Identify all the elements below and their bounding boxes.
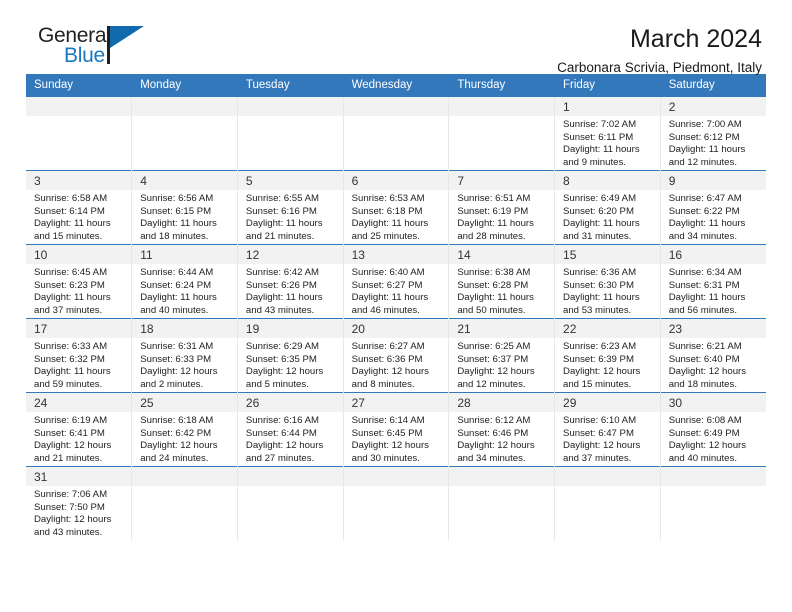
day-sunrise-text: Sunrise: 6:55 AM [246, 193, 337, 206]
day-sunset-text: Sunset: 6:45 PM [352, 428, 443, 441]
day-sunrise-text: Sunrise: 7:00 AM [669, 119, 760, 132]
day-sun-info: Sunrise: 6:55 AMSunset: 6:16 PMDaylight:… [238, 190, 343, 243]
calendar-day-cell[interactable]: 17Sunrise: 6:33 AMSunset: 6:32 PMDayligh… [26, 319, 132, 393]
day-sunset-text: Sunset: 6:24 PM [140, 280, 231, 293]
day-sunrise-text: Sunrise: 6:19 AM [34, 415, 125, 428]
weekday-header-wednesday: Wednesday [343, 74, 449, 97]
calendar-day-cell[interactable]: 31Sunrise: 7:06 AMSunset: 7:50 PMDayligh… [26, 467, 132, 541]
day-sunset-text: Sunset: 6:42 PM [140, 428, 231, 441]
day-daylight-line2-text: and 40 minutes. [140, 305, 231, 318]
day-daylight-line2-text: and 21 minutes. [34, 453, 125, 466]
day-sun-info: Sunrise: 6:47 AMSunset: 6:22 PMDaylight:… [661, 190, 766, 243]
day-daylight-line1-text: Daylight: 11 hours [669, 218, 760, 231]
calendar-day-cell[interactable]: 9Sunrise: 6:47 AMSunset: 6:22 PMDaylight… [660, 171, 766, 245]
day-sunrise-text: Sunrise: 6:58 AM [34, 193, 125, 206]
calendar-day-cell[interactable]: 10Sunrise: 6:45 AMSunset: 6:23 PMDayligh… [26, 245, 132, 319]
day-daylight-line2-text: and 18 minutes. [140, 231, 231, 244]
day-daylight-line1-text: Daylight: 11 hours [246, 218, 337, 231]
calendar-day-cell[interactable]: 11Sunrise: 6:44 AMSunset: 6:24 PMDayligh… [132, 245, 238, 319]
day-sunset-text: Sunset: 6:26 PM [246, 280, 337, 293]
day-daylight-line2-text: and 30 minutes. [352, 453, 443, 466]
calendar-day-cell[interactable]: 18Sunrise: 6:31 AMSunset: 6:33 PMDayligh… [132, 319, 238, 393]
day-daylight-line2-text: and 12 minutes. [669, 157, 760, 170]
day-sunset-text: Sunset: 6:22 PM [669, 206, 760, 219]
day-number: 21 [449, 319, 554, 338]
calendar-day-cell-empty [660, 467, 766, 541]
day-number [132, 97, 237, 116]
day-sunrise-text: Sunrise: 6:31 AM [140, 341, 231, 354]
calendar-day-cell[interactable]: 25Sunrise: 6:18 AMSunset: 6:42 PMDayligh… [132, 393, 238, 467]
day-sun-info: Sunrise: 6:42 AMSunset: 6:26 PMDaylight:… [238, 264, 343, 317]
day-number [449, 97, 554, 116]
day-sunrise-text: Sunrise: 6:56 AM [140, 193, 231, 206]
day-sunset-text: Sunset: 6:46 PM [457, 428, 548, 441]
day-sun-info: Sunrise: 6:08 AMSunset: 6:49 PMDaylight:… [661, 412, 766, 465]
day-sunset-text: Sunset: 6:20 PM [563, 206, 654, 219]
day-number: 29 [555, 393, 660, 412]
day-daylight-line2-text: and 8 minutes. [352, 379, 443, 392]
day-daylight-line2-text: and 40 minutes. [669, 453, 760, 466]
day-daylight-line1-text: Daylight: 11 hours [563, 144, 654, 157]
day-daylight-line1-text: Daylight: 11 hours [34, 366, 125, 379]
day-daylight-line2-text: and 9 minutes. [563, 157, 654, 170]
calendar-day-cell-empty [237, 97, 343, 171]
day-daylight-line2-text: and 15 minutes. [563, 379, 654, 392]
day-daylight-line2-text: and 31 minutes. [563, 231, 654, 244]
day-number: 14 [449, 245, 554, 264]
day-daylight-line2-text: and 18 minutes. [669, 379, 760, 392]
day-daylight-line1-text: Daylight: 11 hours [34, 292, 125, 305]
day-sun-info: Sunrise: 6:10 AMSunset: 6:47 PMDaylight:… [555, 412, 660, 465]
logo-triangle-icon [110, 26, 144, 48]
day-sunrise-text: Sunrise: 6:36 AM [563, 267, 654, 280]
day-number: 13 [344, 245, 449, 264]
day-number: 2 [661, 97, 766, 116]
day-sunset-text: Sunset: 7:50 PM [34, 502, 125, 515]
day-daylight-line1-text: Daylight: 11 hours [352, 218, 443, 231]
calendar-week-row: 24Sunrise: 6:19 AMSunset: 6:41 PMDayligh… [26, 393, 766, 467]
day-sunrise-text: Sunrise: 6:16 AM [246, 415, 337, 428]
day-number: 27 [344, 393, 449, 412]
calendar-week-row: 1Sunrise: 7:02 AMSunset: 6:11 PMDaylight… [26, 97, 766, 171]
calendar-day-cell[interactable]: 20Sunrise: 6:27 AMSunset: 6:36 PMDayligh… [343, 319, 449, 393]
day-daylight-line2-text: and 53 minutes. [563, 305, 654, 318]
general-blue-logo[interactable]: General Blue [38, 24, 158, 70]
day-number [344, 97, 449, 116]
day-sunrise-text: Sunrise: 6:34 AM [669, 267, 760, 280]
day-number: 7 [449, 171, 554, 190]
weekday-header-sunday: Sunday [26, 74, 132, 97]
calendar-day-cell[interactable]: 22Sunrise: 6:23 AMSunset: 6:39 PMDayligh… [555, 319, 661, 393]
day-sunset-text: Sunset: 6:30 PM [563, 280, 654, 293]
day-number: 1 [555, 97, 660, 116]
title-block: March 2024 Carbonara Scrivia, Piedmont, … [557, 24, 766, 79]
day-sunrise-text: Sunrise: 6:33 AM [34, 341, 125, 354]
day-number: 6 [344, 171, 449, 190]
day-sun-info: Sunrise: 6:31 AMSunset: 6:33 PMDaylight:… [132, 338, 237, 391]
day-number [344, 467, 449, 486]
day-sunset-text: Sunset: 6:16 PM [246, 206, 337, 219]
calendar-day-cell-empty [132, 97, 238, 171]
day-daylight-line2-text: and 12 minutes. [457, 379, 548, 392]
calendar-day-cell-empty [26, 97, 132, 171]
day-daylight-line2-text: and 2 minutes. [140, 379, 231, 392]
day-daylight-line1-text: Daylight: 12 hours [352, 440, 443, 453]
day-sun-info: Sunrise: 6:36 AMSunset: 6:30 PMDaylight:… [555, 264, 660, 317]
calendar-day-cell[interactable]: 1Sunrise: 7:02 AMSunset: 6:11 PMDaylight… [555, 97, 661, 171]
day-daylight-line1-text: Daylight: 12 hours [669, 440, 760, 453]
calendar-day-cell-empty [449, 97, 555, 171]
day-sun-info: Sunrise: 7:00 AMSunset: 6:12 PMDaylight:… [661, 116, 766, 169]
day-sunset-text: Sunset: 6:37 PM [457, 354, 548, 367]
page-subtitle: Carbonara Scrivia, Piedmont, Italy [557, 57, 762, 79]
day-number: 31 [26, 467, 131, 486]
day-daylight-line2-text: and 27 minutes. [246, 453, 337, 466]
day-sunset-text: Sunset: 6:33 PM [140, 354, 231, 367]
day-sunrise-text: Sunrise: 6:14 AM [352, 415, 443, 428]
day-sunset-text: Sunset: 6:28 PM [457, 280, 548, 293]
day-daylight-line1-text: Daylight: 12 hours [563, 440, 654, 453]
day-number: 18 [132, 319, 237, 338]
day-daylight-line2-text: and 56 minutes. [669, 305, 760, 318]
day-sunrise-text: Sunrise: 6:08 AM [669, 415, 760, 428]
day-daylight-line1-text: Daylight: 12 hours [246, 366, 337, 379]
day-number [238, 97, 343, 116]
calendar-day-cell[interactable]: 3Sunrise: 6:58 AMSunset: 6:14 PMDaylight… [26, 171, 132, 245]
day-sunset-text: Sunset: 6:44 PM [246, 428, 337, 441]
day-daylight-line1-text: Daylight: 11 hours [563, 218, 654, 231]
calendar-day-cell-empty [132, 467, 238, 541]
calendar-day-cell[interactable]: 26Sunrise: 6:16 AMSunset: 6:44 PMDayligh… [237, 393, 343, 467]
day-daylight-line1-text: Daylight: 11 hours [669, 292, 760, 305]
calendar-day-cell[interactable]: 24Sunrise: 6:19 AMSunset: 6:41 PMDayligh… [26, 393, 132, 467]
day-daylight-line2-text: and 43 minutes. [246, 305, 337, 318]
day-daylight-line1-text: Daylight: 11 hours [34, 218, 125, 231]
day-sun-info: Sunrise: 6:19 AMSunset: 6:41 PMDaylight:… [26, 412, 131, 465]
day-daylight-line2-text: and 37 minutes. [34, 305, 125, 318]
day-sun-info: Sunrise: 6:58 AMSunset: 6:14 PMDaylight:… [26, 190, 131, 243]
day-daylight-line2-text: and 34 minutes. [457, 453, 548, 466]
day-number: 9 [661, 171, 766, 190]
day-daylight-line1-text: Daylight: 11 hours [563, 292, 654, 305]
day-sun-info: Sunrise: 6:49 AMSunset: 6:20 PMDaylight:… [555, 190, 660, 243]
day-sunset-text: Sunset: 6:47 PM [563, 428, 654, 441]
day-daylight-line1-text: Daylight: 11 hours [457, 218, 548, 231]
day-daylight-line1-text: Daylight: 12 hours [140, 440, 231, 453]
weekday-header-monday: Monday [132, 74, 238, 97]
calendar-day-cell[interactable]: 12Sunrise: 6:42 AMSunset: 6:26 PMDayligh… [237, 245, 343, 319]
day-sunrise-text: Sunrise: 6:12 AM [457, 415, 548, 428]
day-sunset-text: Sunset: 6:49 PM [669, 428, 760, 441]
day-daylight-line2-text: and 21 minutes. [246, 231, 337, 244]
day-sunrise-text: Sunrise: 6:40 AM [352, 267, 443, 280]
day-number: 24 [26, 393, 131, 412]
day-daylight-line2-text: and 50 minutes. [457, 305, 548, 318]
day-sun-info: Sunrise: 7:06 AMSunset: 7:50 PMDaylight:… [26, 486, 131, 539]
calendar-day-cell[interactable]: 8Sunrise: 6:49 AMSunset: 6:20 PMDaylight… [555, 171, 661, 245]
day-sunset-text: Sunset: 6:36 PM [352, 354, 443, 367]
day-daylight-line2-text: and 37 minutes. [563, 453, 654, 466]
day-sun-info: Sunrise: 6:34 AMSunset: 6:31 PMDaylight:… [661, 264, 766, 317]
day-number: 17 [26, 319, 131, 338]
day-daylight-line1-text: Daylight: 12 hours [457, 440, 548, 453]
calendar-week-row: 17Sunrise: 6:33 AMSunset: 6:32 PMDayligh… [26, 319, 766, 393]
day-number [449, 467, 554, 486]
day-number: 4 [132, 171, 237, 190]
day-sunrise-text: Sunrise: 6:42 AM [246, 267, 337, 280]
day-daylight-line2-text: and 59 minutes. [34, 379, 125, 392]
calendar-day-cell[interactable]: 16Sunrise: 6:34 AMSunset: 6:31 PMDayligh… [660, 245, 766, 319]
day-number: 11 [132, 245, 237, 264]
day-sun-info: Sunrise: 6:40 AMSunset: 6:27 PMDaylight:… [344, 264, 449, 317]
day-daylight-line1-text: Daylight: 12 hours [140, 366, 231, 379]
calendar-day-cell-empty [449, 467, 555, 541]
day-number: 26 [238, 393, 343, 412]
day-number: 28 [449, 393, 554, 412]
calendar-day-cell[interactable]: 19Sunrise: 6:29 AMSunset: 6:35 PMDayligh… [237, 319, 343, 393]
day-number [26, 97, 131, 116]
calendar-day-cell-empty [555, 467, 661, 541]
day-sunrise-text: Sunrise: 6:27 AM [352, 341, 443, 354]
day-sunset-text: Sunset: 6:32 PM [34, 354, 125, 367]
day-sunset-text: Sunset: 6:35 PM [246, 354, 337, 367]
calendar-day-cell[interactable]: 6Sunrise: 6:53 AMSunset: 6:18 PMDaylight… [343, 171, 449, 245]
calendar-day-cell[interactable]: 13Sunrise: 6:40 AMSunset: 6:27 PMDayligh… [343, 245, 449, 319]
calendar-day-cell[interactable]: 4Sunrise: 6:56 AMSunset: 6:15 PMDaylight… [132, 171, 238, 245]
day-daylight-line1-text: Daylight: 11 hours [246, 292, 337, 305]
day-number: 30 [661, 393, 766, 412]
day-daylight-line1-text: Daylight: 11 hours [140, 292, 231, 305]
day-daylight-line2-text: and 34 minutes. [669, 231, 760, 244]
calendar-day-cell[interactable]: 5Sunrise: 6:55 AMSunset: 6:16 PMDaylight… [237, 171, 343, 245]
day-daylight-line2-text: and 5 minutes. [246, 379, 337, 392]
day-sunrise-text: Sunrise: 6:18 AM [140, 415, 231, 428]
day-daylight-line2-text: and 24 minutes. [140, 453, 231, 466]
day-sun-info: Sunrise: 6:14 AMSunset: 6:45 PMDaylight:… [344, 412, 449, 465]
day-sunrise-text: Sunrise: 6:29 AM [246, 341, 337, 354]
day-daylight-line1-text: Daylight: 12 hours [669, 366, 760, 379]
day-sunset-text: Sunset: 6:23 PM [34, 280, 125, 293]
calendar-day-cell[interactable]: 28Sunrise: 6:12 AMSunset: 6:46 PMDayligh… [449, 393, 555, 467]
calendar-day-cell[interactable]: 30Sunrise: 6:08 AMSunset: 6:49 PMDayligh… [660, 393, 766, 467]
calendar-day-cell-empty [343, 467, 449, 541]
day-number: 5 [238, 171, 343, 190]
day-sunrise-text: Sunrise: 6:51 AM [457, 193, 548, 206]
calendar-day-cell[interactable]: 21Sunrise: 6:25 AMSunset: 6:37 PMDayligh… [449, 319, 555, 393]
day-sunset-text: Sunset: 6:39 PM [563, 354, 654, 367]
day-sun-info: Sunrise: 6:33 AMSunset: 6:32 PMDaylight:… [26, 338, 131, 391]
day-daylight-line1-text: Daylight: 12 hours [34, 514, 125, 527]
calendar-day-cell[interactable]: 2Sunrise: 7:00 AMSunset: 6:12 PMDaylight… [660, 97, 766, 171]
weekday-header-thursday: Thursday [449, 74, 555, 97]
day-number [238, 467, 343, 486]
day-daylight-line2-text: and 46 minutes. [352, 305, 443, 318]
day-sunset-text: Sunset: 6:18 PM [352, 206, 443, 219]
calendar-day-cell[interactable]: 14Sunrise: 6:38 AMSunset: 6:28 PMDayligh… [449, 245, 555, 319]
calendar-day-cell-empty [343, 97, 449, 171]
day-sun-info: Sunrise: 6:16 AMSunset: 6:44 PMDaylight:… [238, 412, 343, 465]
day-daylight-line1-text: Daylight: 12 hours [457, 366, 548, 379]
calendar-week-row: 31Sunrise: 7:06 AMSunset: 7:50 PMDayligh… [26, 467, 766, 541]
day-sun-info: Sunrise: 6:25 AMSunset: 6:37 PMDaylight:… [449, 338, 554, 391]
day-number: 3 [26, 171, 131, 190]
day-sunrise-text: Sunrise: 6:23 AM [563, 341, 654, 354]
weekday-header-tuesday: Tuesday [237, 74, 343, 97]
calendar-day-cell[interactable]: 7Sunrise: 6:51 AMSunset: 6:19 PMDaylight… [449, 171, 555, 245]
day-number: 25 [132, 393, 237, 412]
day-sun-info: Sunrise: 6:23 AMSunset: 6:39 PMDaylight:… [555, 338, 660, 391]
day-daylight-line1-text: Daylight: 11 hours [669, 144, 760, 157]
page-header: General Blue March 2024 Carbonara Scrivi… [26, 0, 766, 74]
day-sun-info: Sunrise: 6:27 AMSunset: 6:36 PMDaylight:… [344, 338, 449, 391]
day-sunset-text: Sunset: 6:19 PM [457, 206, 548, 219]
calendar-body: 1Sunrise: 7:02 AMSunset: 6:11 PMDaylight… [26, 97, 766, 541]
day-sunrise-text: Sunrise: 6:47 AM [669, 193, 760, 206]
day-sun-info: Sunrise: 6:53 AMSunset: 6:18 PMDaylight:… [344, 190, 449, 243]
day-sun-info: Sunrise: 7:02 AMSunset: 6:11 PMDaylight:… [555, 116, 660, 169]
page-title: March 2024 [557, 24, 762, 54]
day-number: 8 [555, 171, 660, 190]
day-sunrise-text: Sunrise: 6:38 AM [457, 267, 548, 280]
day-daylight-line1-text: Daylight: 12 hours [563, 366, 654, 379]
calendar-day-cell-empty [237, 467, 343, 541]
day-daylight-line1-text: Daylight: 11 hours [352, 292, 443, 305]
day-sunset-text: Sunset: 6:15 PM [140, 206, 231, 219]
day-number [661, 467, 766, 486]
calendar-week-row: 3Sunrise: 6:58 AMSunset: 6:14 PMDaylight… [26, 171, 766, 245]
day-sunset-text: Sunset: 6:31 PM [669, 280, 760, 293]
day-sunrise-text: Sunrise: 6:44 AM [140, 267, 231, 280]
day-number: 23 [661, 319, 766, 338]
day-number: 12 [238, 245, 343, 264]
sunrise-sunset-calendar: Sunday Monday Tuesday Wednesday Thursday… [26, 74, 766, 541]
day-number [132, 467, 237, 486]
day-number: 16 [661, 245, 766, 264]
calendar-day-cell[interactable]: 29Sunrise: 6:10 AMSunset: 6:47 PMDayligh… [555, 393, 661, 467]
calendar-day-cell[interactable]: 15Sunrise: 6:36 AMSunset: 6:30 PMDayligh… [555, 245, 661, 319]
day-daylight-line1-text: Daylight: 12 hours [34, 440, 125, 453]
day-sunrise-text: Sunrise: 6:45 AM [34, 267, 125, 280]
day-sunrise-text: Sunrise: 6:25 AM [457, 341, 548, 354]
day-daylight-line1-text: Daylight: 12 hours [246, 440, 337, 453]
day-number: 22 [555, 319, 660, 338]
logo-text-blue: Blue [64, 44, 105, 68]
day-sun-info: Sunrise: 6:45 AMSunset: 6:23 PMDaylight:… [26, 264, 131, 317]
day-sun-info: Sunrise: 6:51 AMSunset: 6:19 PMDaylight:… [449, 190, 554, 243]
calendar-page: General Blue March 2024 Carbonara Scrivi… [0, 0, 792, 612]
day-sun-info: Sunrise: 6:44 AMSunset: 6:24 PMDaylight:… [132, 264, 237, 317]
calendar-day-cell[interactable]: 23Sunrise: 6:21 AMSunset: 6:40 PMDayligh… [660, 319, 766, 393]
day-sunset-text: Sunset: 6:12 PM [669, 132, 760, 145]
day-sunrise-text: Sunrise: 6:49 AM [563, 193, 654, 206]
day-daylight-line2-text: and 15 minutes. [34, 231, 125, 244]
day-sunset-text: Sunset: 6:11 PM [563, 132, 654, 145]
day-sunrise-text: Sunrise: 7:06 AM [34, 489, 125, 502]
calendar-week-row: 10Sunrise: 6:45 AMSunset: 6:23 PMDayligh… [26, 245, 766, 319]
day-daylight-line1-text: Daylight: 11 hours [140, 218, 231, 231]
day-sunrise-text: Sunrise: 6:53 AM [352, 193, 443, 206]
day-daylight-line1-text: Daylight: 11 hours [457, 292, 548, 305]
day-sun-info: Sunrise: 6:21 AMSunset: 6:40 PMDaylight:… [661, 338, 766, 391]
day-sunset-text: Sunset: 6:14 PM [34, 206, 125, 219]
day-number: 10 [26, 245, 131, 264]
day-number: 20 [344, 319, 449, 338]
day-sunrise-text: Sunrise: 6:10 AM [563, 415, 654, 428]
day-daylight-line1-text: Daylight: 12 hours [352, 366, 443, 379]
day-number: 15 [555, 245, 660, 264]
day-sun-info: Sunrise: 6:29 AMSunset: 6:35 PMDaylight:… [238, 338, 343, 391]
day-number: 19 [238, 319, 343, 338]
day-sun-info: Sunrise: 6:56 AMSunset: 6:15 PMDaylight:… [132, 190, 237, 243]
day-sunset-text: Sunset: 6:40 PM [669, 354, 760, 367]
day-sun-info: Sunrise: 6:12 AMSunset: 6:46 PMDaylight:… [449, 412, 554, 465]
day-sunrise-text: Sunrise: 6:21 AM [669, 341, 760, 354]
day-sun-info: Sunrise: 6:18 AMSunset: 6:42 PMDaylight:… [132, 412, 237, 465]
day-sunset-text: Sunset: 6:41 PM [34, 428, 125, 441]
day-sunset-text: Sunset: 6:27 PM [352, 280, 443, 293]
calendar-day-cell[interactable]: 27Sunrise: 6:14 AMSunset: 6:45 PMDayligh… [343, 393, 449, 467]
day-sun-info: Sunrise: 6:38 AMSunset: 6:28 PMDaylight:… [449, 264, 554, 317]
day-daylight-line2-text: and 25 minutes. [352, 231, 443, 244]
day-sunrise-text: Sunrise: 7:02 AM [563, 119, 654, 132]
day-daylight-line2-text: and 28 minutes. [457, 231, 548, 244]
day-daylight-line2-text: and 43 minutes. [34, 527, 125, 540]
day-number [555, 467, 660, 486]
